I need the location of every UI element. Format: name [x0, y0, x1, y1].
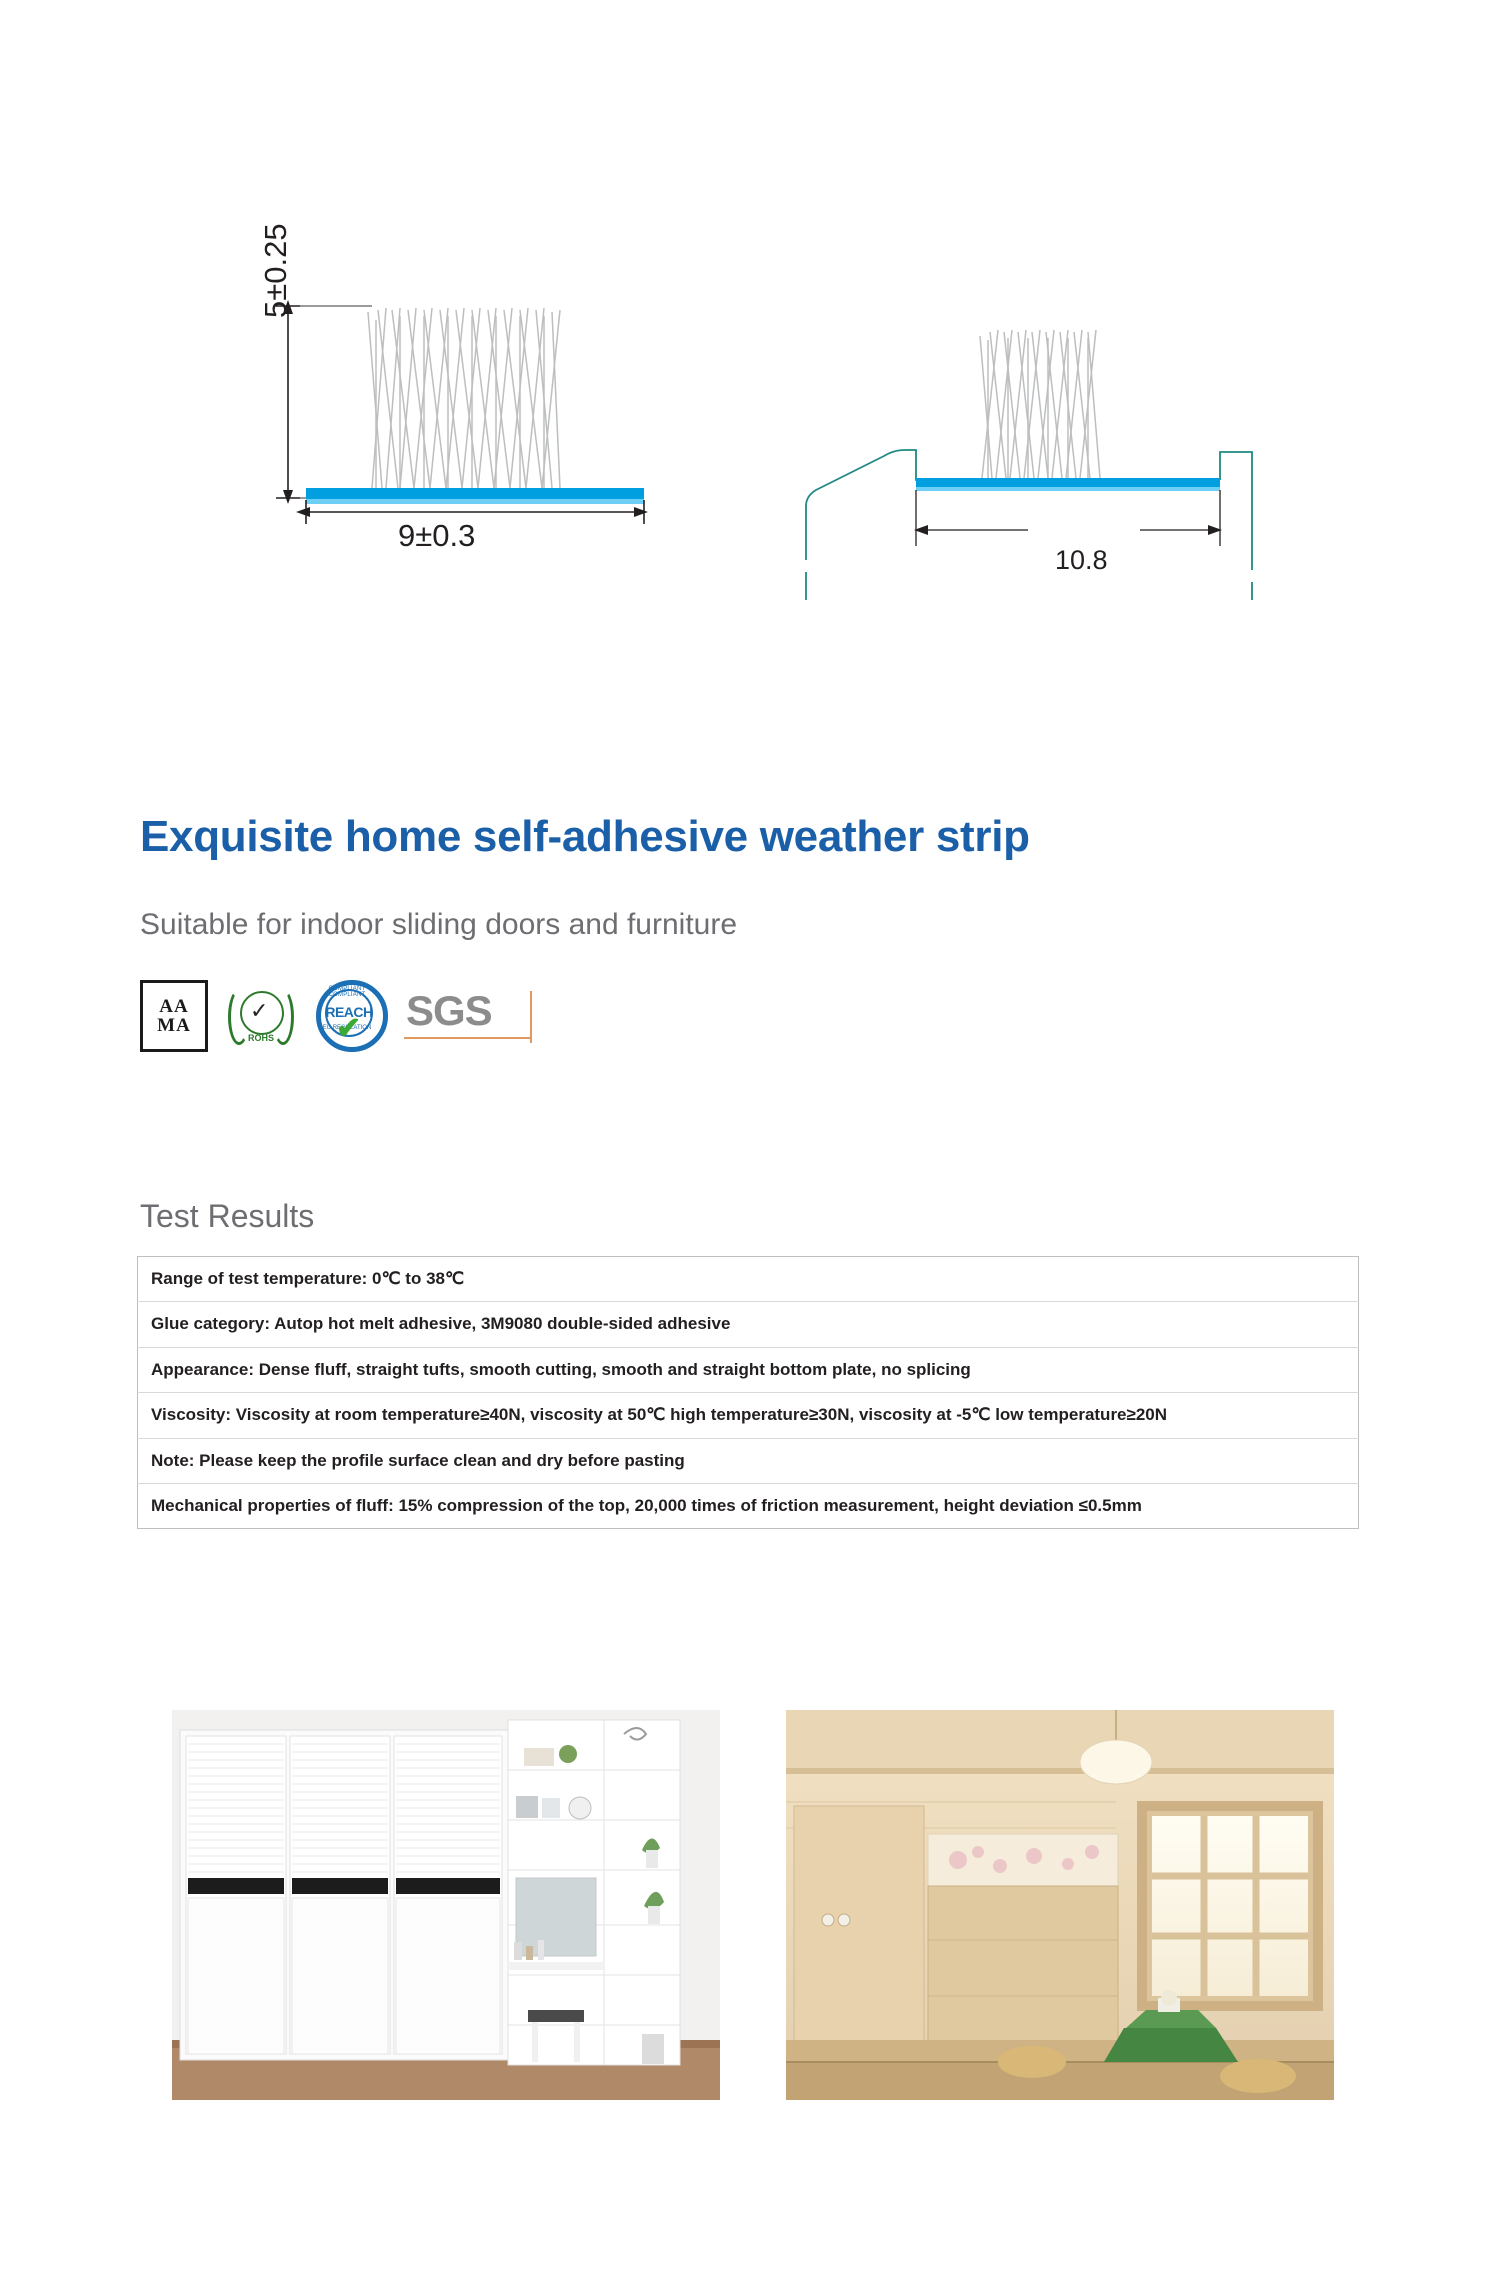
rohs-logo: ✓ ROHS	[226, 981, 296, 1051]
table-row: Glue category: Autop hot melt adhesive, …	[138, 1302, 1359, 1347]
aama-logo-line2: MA	[157, 1016, 191, 1035]
aama-logo: AA MA	[140, 981, 208, 1051]
application-photo-row	[0, 1710, 1500, 2110]
certification-logo-row: AA MA ✓ ROHS COMPLIANT COMPLIANT REACH E…	[140, 975, 539, 1057]
table-row: Mechanical properties of fluff: 15% comp…	[138, 1483, 1359, 1528]
left-vertical-dimension-label: 5±0.25	[258, 223, 294, 318]
left-horizontal-dimension-label: 9±0.3	[398, 518, 475, 554]
reach-logo-top-text: COMPLIANT COMPLIANT	[320, 986, 374, 998]
table-row: Range of test temperature: 0℃ to 38℃	[138, 1257, 1359, 1302]
table-row: Note: Please keep the profile surface cl…	[138, 1438, 1359, 1483]
check-icon: ✓	[250, 1000, 268, 1022]
left-vertical-dimension-line	[276, 300, 300, 504]
test-results-table: Range of test temperature: 0℃ to 38℃ Glu…	[137, 1256, 1359, 1529]
table-row: Appearance: Dense fluff, straight tufts,…	[138, 1347, 1359, 1392]
sgs-rule-vertical	[530, 991, 532, 1043]
test-results-row-2: Appearance: Dense fluff, straight tufts,…	[138, 1347, 1359, 1392]
table-row: Viscosity: Viscosity at room temperature…	[138, 1393, 1359, 1438]
reach-logo: COMPLIANT COMPLIANT REACH EU REGULATION …	[314, 981, 386, 1051]
rohs-logo-label: ROHS	[226, 1033, 296, 1043]
photo-white-sliding-wardrobe	[172, 1710, 720, 2100]
left-base-plate	[306, 488, 644, 499]
right-base-plate	[916, 478, 1220, 487]
right-dimension-line	[914, 490, 1222, 546]
aama-logo-line1: AA	[159, 997, 188, 1016]
test-results-row-1: Glue category: Autop hot melt adhesive, …	[138, 1302, 1359, 1347]
photo-wooden-tatami-room	[786, 1710, 1334, 2100]
sgs-logo-label: SGS	[406, 987, 492, 1035]
page-title: Exquisite home self-adhesive weather str…	[140, 812, 1030, 862]
test-results-row-4: Note: Please keep the profile surface cl…	[138, 1438, 1359, 1483]
test-results-row-0: Range of test temperature: 0℃ to 38℃	[138, 1257, 1359, 1302]
sgs-rule-horizontal	[404, 1037, 532, 1039]
page-subtitle: Suitable for indoor sliding doors and fu…	[140, 908, 737, 942]
sgs-logo: SGS	[404, 981, 539, 1051]
test-results-row-3: Viscosity: Viscosity at room temperature…	[138, 1393, 1359, 1438]
dimension-drawing-svg	[0, 0, 1500, 640]
right-brush-pile	[980, 330, 1100, 478]
reach-check-icon: ✔	[336, 1014, 361, 1044]
product-dimension-diagrams: 5±0.25 9±0.3 10.8	[0, 0, 1500, 640]
right-frame-profile	[806, 450, 1252, 600]
test-results-heading: Test Results	[140, 1198, 314, 1235]
right-dimension-label: 10.8	[1055, 545, 1108, 576]
left-brush-pile	[368, 308, 560, 488]
test-results-row-5: Mechanical properties of fluff: 15% comp…	[138, 1483, 1359, 1528]
